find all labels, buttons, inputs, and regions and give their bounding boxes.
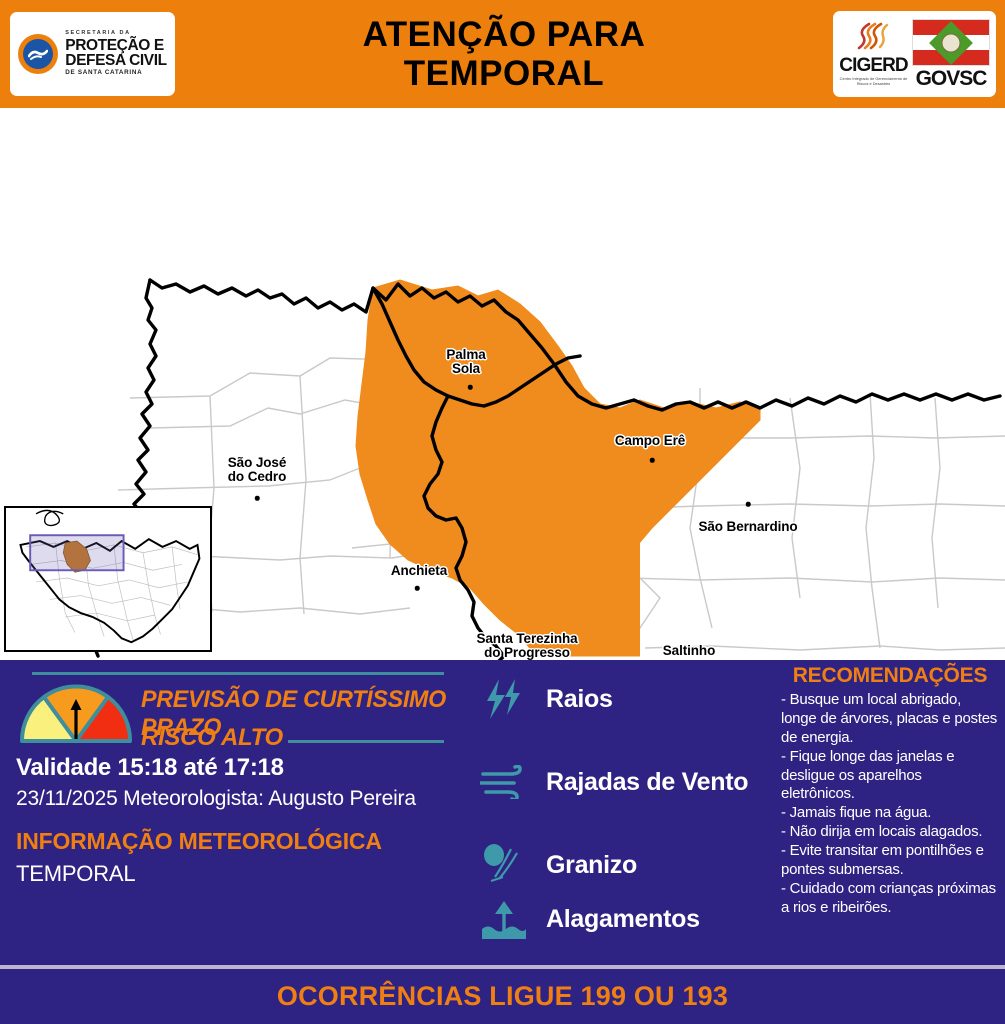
- inset-decoration-icon: [36, 510, 63, 525]
- defesa-civil-emblem-icon: [18, 34, 58, 74]
- city-label: São Bernardino: [698, 520, 797, 534]
- divider-risk: [288, 740, 444, 743]
- city-dot: [746, 502, 751, 507]
- meteorologist-text: 23/11/2025 Meteorologista: Augusto Perei…: [16, 787, 416, 811]
- hazard-item-raios: Raios: [480, 672, 613, 726]
- city-dot: [468, 385, 473, 390]
- santa-catarina-flag-icon: [912, 19, 990, 66]
- inset-locator-map: [4, 506, 212, 652]
- city-label: Anchieta: [391, 564, 447, 578]
- city-label: Santa Terezinha do Progresso: [476, 632, 577, 660]
- alert-area-polygon: [356, 280, 760, 656]
- alert-title: ATENÇÃO PARA TEMPORAL: [175, 15, 833, 93]
- cigerd-wave-icon: [849, 21, 899, 51]
- alert-title-line2: TEMPORAL: [404, 54, 604, 93]
- hazard-label: Granizo: [546, 851, 637, 880]
- city-label: Palma Sola: [446, 348, 485, 377]
- emergency-phone-text: OCORRÊNCIAS LIGUE 199 OU 193: [277, 981, 728, 1012]
- recommendation-item: - Jamais fique na água.: [781, 804, 999, 823]
- hazards-column: Raios Rajadas de Vento: [470, 660, 770, 965]
- hazard-item-vento: Rajadas de Vento: [480, 755, 748, 809]
- city-dot: [415, 586, 420, 591]
- alert-title-line1: ATENÇÃO PARA: [363, 15, 646, 54]
- alert-map: Palma Sola Campo Erê São José do Cedro S…: [0, 108, 1005, 660]
- dc-line3: DEFESA CIVIL: [65, 53, 166, 69]
- recommendations-column: RECOMENDAÇÕES - Busque um local abrigado…: [775, 660, 1005, 965]
- partner-logos: CIGERD Centro Integrado de Gerenciamento…: [833, 11, 996, 97]
- risk-gauge-icon: [16, 683, 136, 745]
- meteo-info-body: TEMPORAL: [16, 861, 135, 887]
- risk-gauge: [16, 683, 136, 745]
- govsc-suffix: SC: [959, 67, 986, 90]
- validity-text: Validade 15:18 até 17:18: [16, 754, 284, 782]
- wind-icon: [480, 759, 528, 805]
- govsc-prefix: GOV: [916, 67, 960, 90]
- inset-state-outline: [6, 508, 210, 650]
- meteo-info-heading: INFORMAÇÃO METEOROLÓGICA: [16, 828, 382, 855]
- recommendation-item: - Evite transitar em pontilhões e pontes…: [781, 842, 999, 880]
- hazard-item-alagamentos: Alagamentos: [480, 892, 700, 946]
- recommendation-item: - Busque um local abrigado, longe de árv…: [781, 691, 999, 748]
- recommendation-item: - Cuidado com crianças próximas a rios e…: [781, 880, 999, 918]
- dc-line4: DE SANTA CATARINA: [65, 70, 166, 76]
- recommendations-list: - Busque um local abrigado, longe de árv…: [775, 691, 1005, 918]
- hail-icon: [480, 842, 528, 888]
- cigerd-subtitle: Centro Integrado de Gerenciamento de Ris…: [839, 77, 908, 87]
- city-dot: [255, 496, 260, 501]
- footer-bar: OCORRÊNCIAS LIGUE 199 OU 193: [0, 969, 1005, 1024]
- dc-wave-icon: [28, 48, 48, 60]
- info-panel: PREVISÃO DE CURTÍSSIMO PRAZO RISCO ALTO …: [0, 660, 1005, 965]
- inset-highlight-box: [30, 535, 123, 570]
- risk-level-label: RISCO ALTO: [141, 724, 283, 752]
- hazard-label: Rajadas de Vento: [546, 768, 748, 797]
- govsc-wordmark: GOVSC: [912, 68, 990, 89]
- cigerd-name: CIGERD: [839, 56, 908, 75]
- recommendations-title: RECOMENDAÇÕES: [775, 664, 1005, 688]
- dc-line2: PROTEÇÃO E: [65, 38, 166, 54]
- hazard-item-granizo: Granizo: [480, 838, 637, 892]
- lightning-icon: [480, 676, 528, 722]
- header-banner: SECRETARIA DA PROTEÇÃO E DEFESA CIVIL DE…: [0, 0, 1005, 108]
- cigerd-logo: CIGERD Centro Integrado de Gerenciamento…: [839, 21, 908, 87]
- hazard-label: Raios: [546, 685, 613, 714]
- hazard-label: Alagamentos: [546, 905, 700, 934]
- recommendation-item: - Não dirija em locais alagados.: [781, 823, 999, 842]
- city-label: Campo Erê: [615, 434, 685, 448]
- city-label: Saltinho: [663, 644, 715, 658]
- city-dot: [650, 458, 655, 463]
- recommendation-item: - Fique longe das janelas e desligue os …: [781, 748, 999, 805]
- city-label: São José do Cedro: [228, 456, 286, 485]
- defesa-civil-logo: SECRETARIA DA PROTEÇÃO E DEFESA CIVIL DE…: [10, 12, 175, 96]
- divider-top: [32, 672, 444, 675]
- govsc-logo: GOVSC: [912, 19, 990, 89]
- forecast-column: PREVISÃO DE CURTÍSSIMO PRAZO RISCO ALTO …: [0, 660, 465, 965]
- flooding-icon: [480, 896, 528, 942]
